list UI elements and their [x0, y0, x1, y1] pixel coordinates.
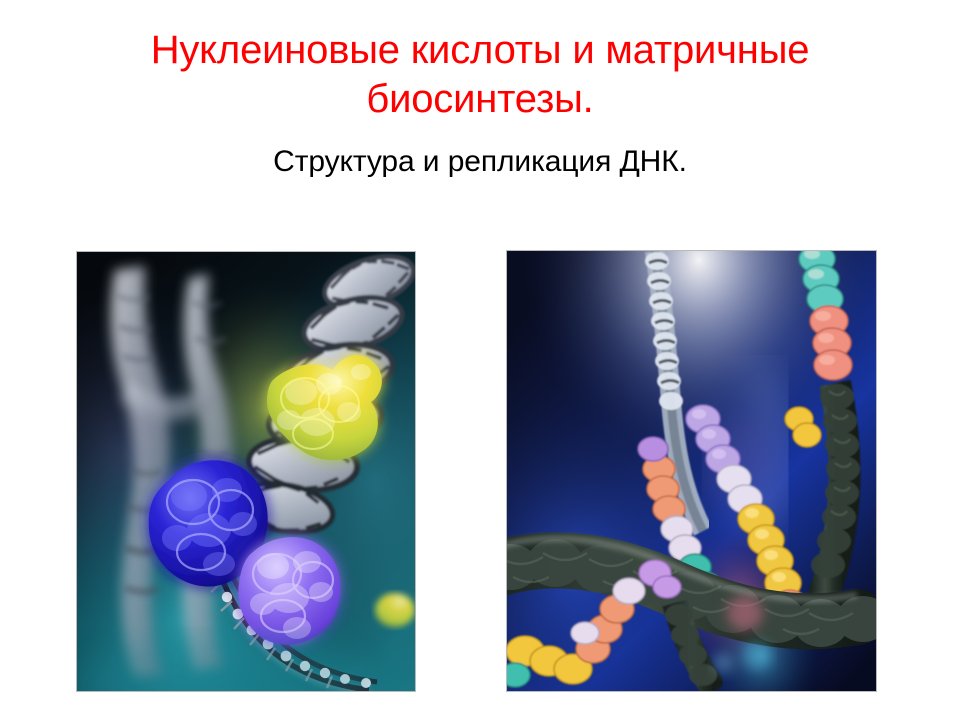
- title-block: Нуклеиновые кислоты и матричные биосинте…: [60, 26, 900, 180]
- image-chromosome-chromatin: [76, 251, 416, 692]
- slide-canvas: Нуклеиновые кислоты и матричные биосинте…: [0, 0, 960, 710]
- chromosome-illustration-graphic: [77, 252, 415, 691]
- image-dna-double-helix: [506, 250, 877, 692]
- page-title: Нуклеиновые кислоты и матричные биосинте…: [60, 26, 900, 124]
- page-subtitle: Структура и репликация ДНК.: [60, 124, 900, 180]
- protein-nodule-yellow-small: [375, 593, 415, 627]
- dna-helix-illustration-graphic: [507, 251, 876, 691]
- protein-complex-violet: [238, 537, 340, 645]
